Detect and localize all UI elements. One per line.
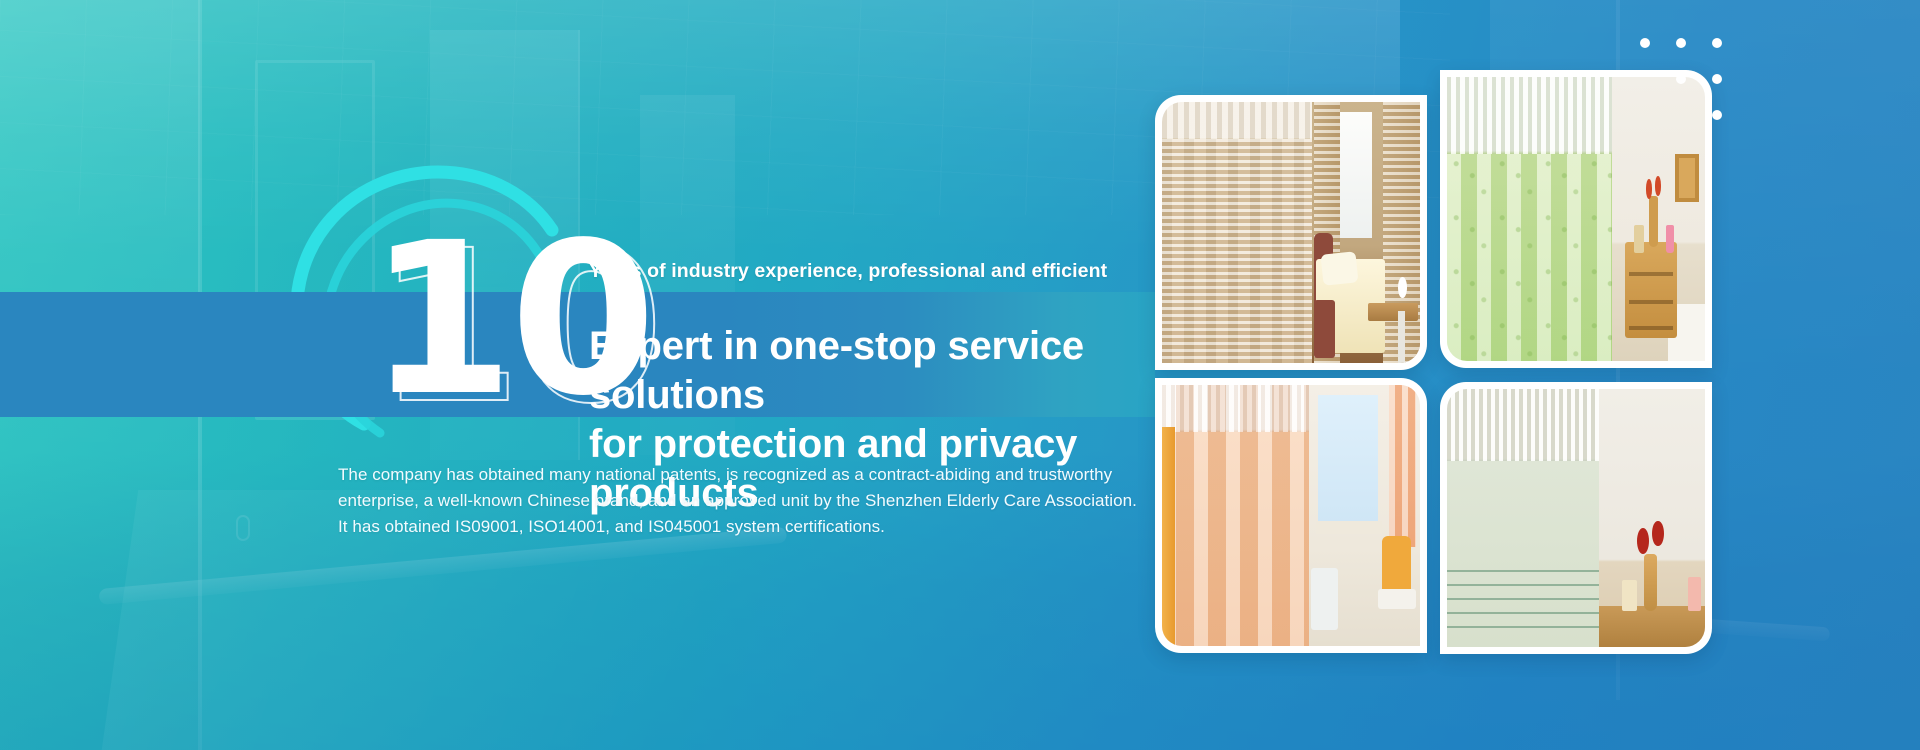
bed-footboard — [1314, 300, 1336, 357]
curtain-swatch-beige — [1162, 102, 1312, 363]
window — [1318, 395, 1378, 526]
window-drape — [1389, 385, 1416, 547]
dot-6 — [1712, 110, 1722, 120]
striped-cup — [1688, 577, 1701, 611]
gallery-image-frame — [1162, 385, 1420, 646]
window-sill — [1316, 521, 1383, 534]
wall-picture-frame — [1675, 154, 1699, 202]
tea-cup — [1398, 277, 1407, 298]
cabinet-drawer-2 — [1629, 300, 1674, 304]
flower-bloom-right — [1652, 521, 1664, 547]
radiator-unit — [1311, 568, 1338, 631]
hero-banner: 10 10 Years of industry experience, prof… — [0, 0, 1920, 750]
room-scene-ward-window — [1309, 385, 1420, 646]
flower-bloom-right — [1655, 176, 1662, 196]
flower-bloom-left — [1646, 179, 1653, 199]
flower-vase — [1649, 196, 1657, 247]
wooden-horse-figurine — [1634, 225, 1643, 253]
description-line-1: The company has obtained many national p… — [338, 462, 1128, 488]
dot-1 — [1640, 38, 1650, 48]
description-line-3: It has obtained IS09001, ISO14001, and I… — [338, 514, 1128, 540]
photo-sage-curtain — [1447, 389, 1705, 647]
bedside-cabinet — [1625, 242, 1677, 339]
room-scene-corner-desk — [1599, 389, 1705, 647]
dot-3 — [1712, 38, 1722, 48]
gallery-image-frame — [1162, 102, 1420, 363]
gallery-image-peach-privacy-curtain-ward-window[interactable] — [1155, 378, 1427, 653]
wooden-desk — [1599, 606, 1705, 647]
headline-line-1: Expert in one-stop service solutions — [589, 322, 1160, 420]
dot-grid-decoration — [1640, 38, 1760, 148]
cabinet-drawer-3 — [1629, 326, 1674, 330]
pillow — [1321, 252, 1359, 287]
dot-4 — [1676, 74, 1686, 84]
curtain-swatch-green-floral — [1447, 77, 1612, 361]
room-scene-hospital-bed — [1312, 102, 1420, 363]
chair-seat — [1378, 589, 1416, 610]
product-gallery — [1150, 0, 1920, 750]
hero-content: 10 10 Years of industry experience, prof… — [0, 0, 1160, 750]
curtain-swatch-peach — [1162, 385, 1309, 646]
photo-beige-curtain — [1162, 102, 1420, 363]
pink-mug — [1666, 225, 1674, 253]
years-number: 10 — [368, 220, 652, 420]
gallery-image-sage-striped-privacy-curtain-corner[interactable] — [1440, 382, 1712, 654]
window — [1340, 112, 1373, 237]
curtain-stripe-band — [1447, 570, 1599, 637]
gallery-image-beige-striped-privacy-curtain-hospital-bed[interactable] — [1155, 95, 1427, 370]
wooden-horse-figurine — [1622, 580, 1637, 611]
table-leg — [1398, 311, 1405, 363]
gallery-image-frame — [1447, 389, 1705, 647]
description-line-2: enterprise, a well-known Chinese brand, … — [338, 488, 1128, 514]
cabinet-drawer-1 — [1629, 272, 1674, 276]
curtain-edge-highlight — [1162, 427, 1175, 646]
eyebrow-text: Years of industry experience, profession… — [589, 260, 1107, 283]
overbed-table — [1368, 303, 1418, 321]
dot-2 — [1676, 38, 1686, 48]
flower-bloom-left — [1637, 528, 1649, 554]
flower-vase — [1644, 554, 1658, 611]
curtain-swatch-sage-striped — [1447, 389, 1599, 647]
photo-peach-curtain — [1162, 385, 1420, 646]
dot-5 — [1712, 74, 1722, 84]
description-paragraph: The company has obtained many national p… — [338, 462, 1128, 540]
